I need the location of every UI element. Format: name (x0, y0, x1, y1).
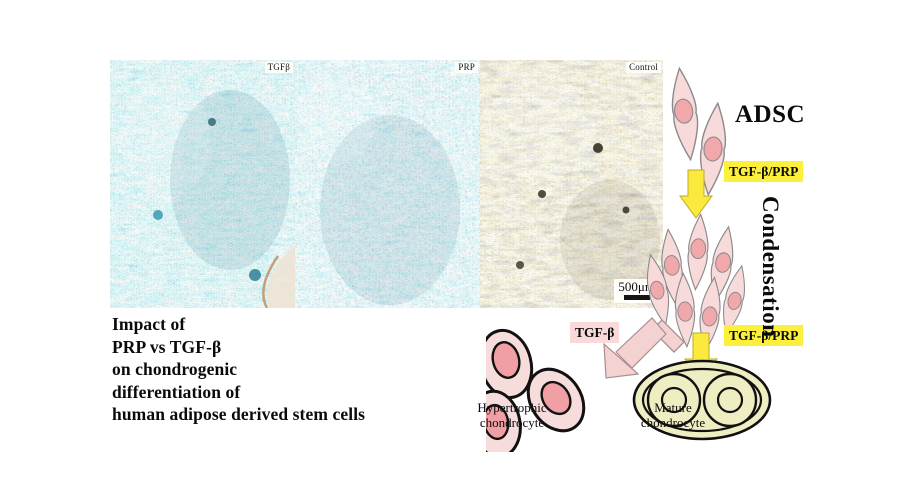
title-line-3: on chondrogenic (112, 358, 452, 381)
title-line-4: differentiation of (112, 381, 452, 404)
differentiation-schematic (486, 52, 900, 452)
mature-caption-line2: chondrocyte (613, 415, 733, 430)
treatment-badge-1: TGF-β/PRP (724, 161, 803, 182)
micrograph-panel-tgfb: TGFβ (110, 60, 295, 308)
title-line-2: PRP vs TGF-β (112, 336, 452, 359)
hypertrophic-caption-line2: chondrocyte (447, 415, 577, 430)
micrograph-texture-prp (295, 60, 480, 308)
mature-chondrocyte-caption: Mature chondrocyte (613, 400, 733, 430)
micrograph-panel-prp: PRP (295, 60, 480, 308)
treatment-badge-tgfb: TGF-β (570, 322, 619, 343)
figure-title: Impact of PRP vs TGF-β on chondrogenic d… (112, 313, 452, 426)
panel-label-prp: PRP (455, 62, 478, 73)
title-line-5: human adipose derived stem cells (112, 403, 452, 426)
condensation-label: Condensation (757, 196, 783, 337)
figure-canvas: TGFβ (0, 0, 900, 500)
adsc-label: ADSC (735, 101, 805, 129)
hypertrophic-chondrocyte-caption: Hypertrophic chondrocyte (447, 400, 577, 430)
micrograph-texture-tgfb (110, 60, 295, 308)
hypertrophic-caption-line1: Hypertrophic (447, 400, 577, 415)
hypertrophic-chondrocyte-group (486, 325, 595, 452)
mature-caption-line1: Mature (613, 400, 733, 415)
panel-label-tgfb: TGFβ (265, 62, 293, 73)
title-line-1: Impact of (112, 313, 452, 336)
